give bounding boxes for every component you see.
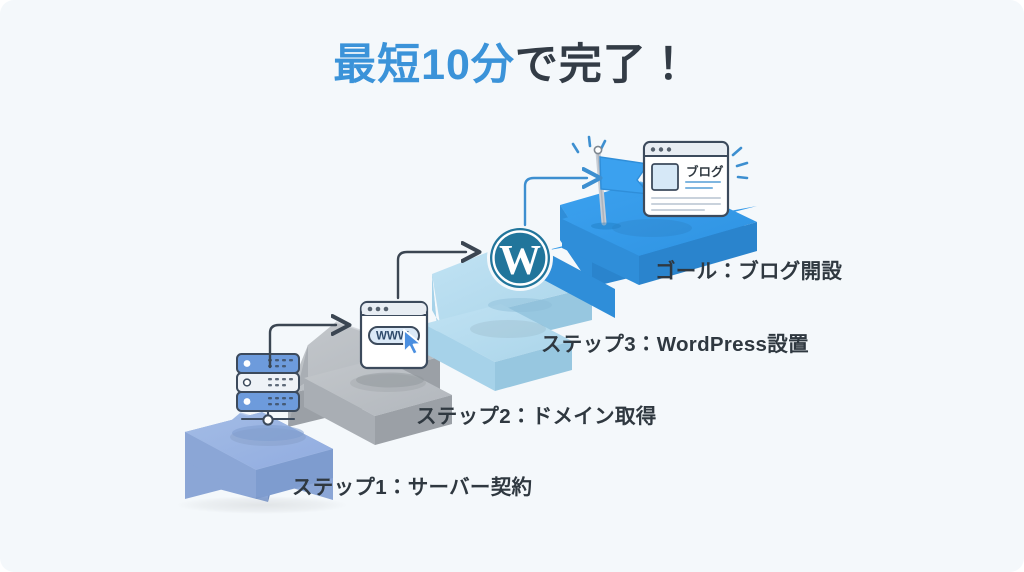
blog-window-heading: ブログ	[686, 164, 724, 179]
sparkle-lines-right	[733, 148, 747, 178]
server-rack-icon	[232, 354, 304, 441]
step-label-3: ステップ3：WordPress設置	[541, 327, 809, 357]
step-label-2: ステップ2：ドメイン取得	[416, 399, 657, 429]
wordpress-w-glyph: W	[499, 238, 541, 284]
blog-window-icon: ブログ	[644, 142, 747, 216]
step-label-4: ゴール：ブログ開設	[655, 254, 842, 284]
step-label-1: ステップ1：サーバー契約	[292, 470, 532, 500]
infographic-canvas: 最短10分で完了！	[0, 0, 1024, 572]
